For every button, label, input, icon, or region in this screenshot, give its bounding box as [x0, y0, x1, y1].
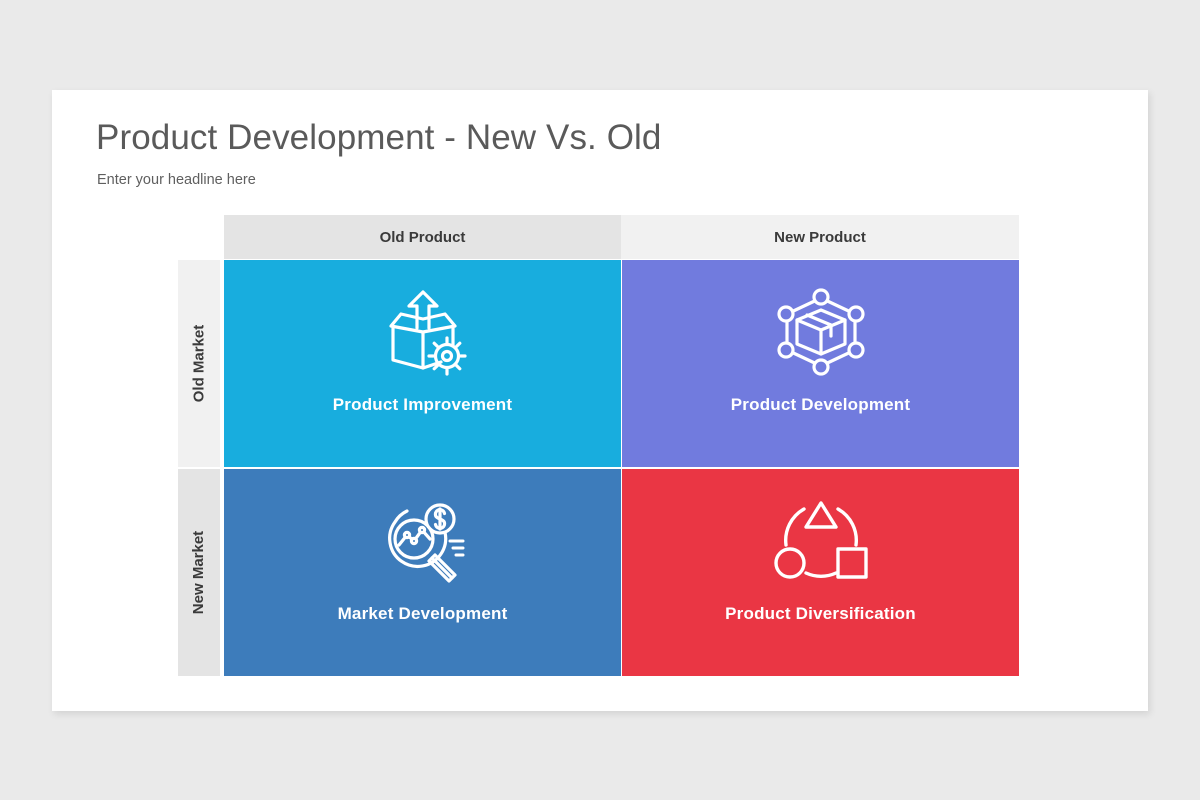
row-header-old-market-label: Old Market: [191, 325, 208, 403]
column-header-new-product[interactable]: New Product: [621, 215, 1019, 259]
quadrant-product-diversification[interactable]: Product Diversification: [622, 469, 1019, 676]
page-title: Product Development - New Vs. Old: [96, 118, 661, 158]
shapes-cycle-icon: [769, 495, 873, 587]
column-header-new-product-label: New Product: [774, 229, 866, 246]
magnifier-chart-dollar-icon: [371, 495, 475, 587]
quadrant-product-diversification-label: Product Diversification: [725, 604, 916, 624]
cube-network-icon: [769, 286, 873, 378]
ansoff-matrix: Old Product New Product Old Market New M…: [178, 215, 1019, 676]
page-subtitle: Enter your headline here: [97, 172, 256, 188]
slide-page: Product Development - New Vs. Old Enter …: [0, 0, 1200, 800]
column-header-row: Old Product New Product: [224, 215, 1019, 259]
slide-card: Product Development - New Vs. Old Enter …: [52, 90, 1148, 711]
row-header-column: Old Market New Market: [178, 260, 220, 676]
column-header-old-product-label: Old Product: [380, 229, 466, 246]
quadrant-market-development[interactable]: Market Development: [224, 469, 621, 676]
column-header-old-product[interactable]: Old Product: [224, 215, 621, 259]
quadrant-grid: Product Improvement: [224, 260, 1019, 676]
row-header-new-market[interactable]: New Market: [178, 469, 220, 676]
quadrant-product-development-label: Product Development: [731, 395, 911, 415]
row-header-new-market-label: New Market: [191, 531, 208, 614]
quadrant-product-improvement-label: Product Improvement: [333, 395, 513, 415]
box-arrow-gear-icon: [371, 286, 475, 378]
quadrant-market-development-label: Market Development: [338, 604, 508, 624]
row-header-old-market[interactable]: Old Market: [178, 260, 220, 467]
quadrant-product-improvement[interactable]: Product Improvement: [224, 260, 621, 467]
quadrant-product-development[interactable]: Product Development: [622, 260, 1019, 467]
